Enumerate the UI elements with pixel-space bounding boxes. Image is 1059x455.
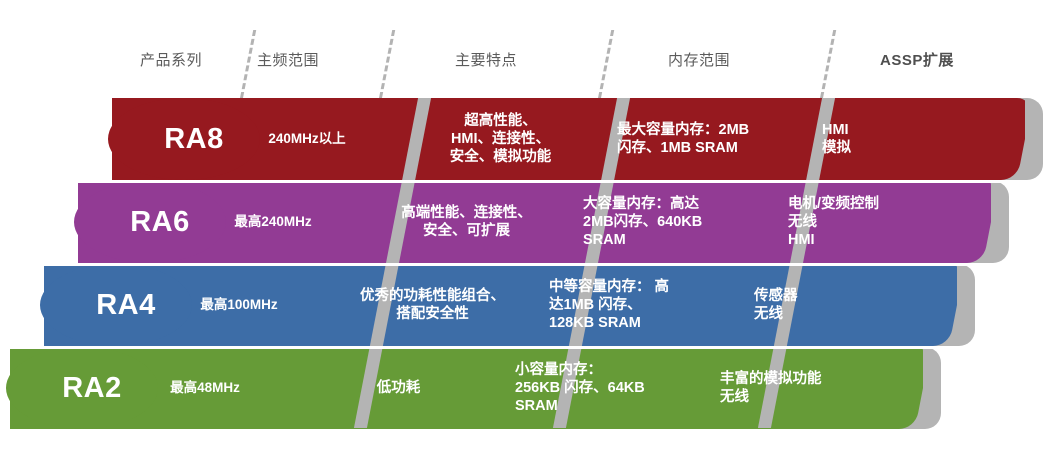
header-label-2: 主频范围	[257, 49, 319, 70]
header-label-3: 主要特点	[455, 49, 517, 70]
ra-family-comparison-diagram: 产品系列主频范围主要特点内存范围ASSP扩展 RA8RA6RA4RA2 240M…	[0, 0, 1059, 455]
header-divider-1	[240, 30, 256, 98]
cell-assp-ra6: 电机/变频控制 无线 HMI	[788, 181, 948, 263]
header-divider-2	[379, 30, 395, 98]
row-gutter-4	[0, 429, 1059, 455]
header-label-1: 产品系列	[140, 49, 202, 70]
header-divider-3	[598, 30, 614, 98]
cell-features-ra4: 优秀的功耗性能组合、 搭配安全性	[330, 264, 535, 346]
cell-assp-ra8: HMI 模拟	[822, 98, 982, 180]
family-badge-label: RA4	[96, 289, 156, 322]
cell-frequency-ra4: 最高100MHz	[164, 264, 314, 346]
cell-features-ra8: 超高性能、 HMI、连接性、 安全、模拟功能	[398, 98, 603, 180]
family-badge-label: RA2	[62, 372, 122, 405]
cell-memory-ra2: 小容量内存： 256KB 闪存、64KB SRAM	[515, 347, 700, 429]
cell-frequency-ra8: 240MHz以上	[232, 98, 382, 180]
cell-frequency-ra2: 最高48MHz	[130, 347, 280, 429]
cell-assp-ra4: 传感器 无线	[754, 264, 914, 346]
family-badge-label: RA6	[130, 206, 190, 239]
cell-features-ra6: 高端性能、连接性、 安全、可扩展	[364, 181, 569, 263]
cell-features-ra2: 低功耗	[296, 347, 501, 429]
family-badge-label: RA8	[164, 123, 224, 156]
header-label-4: 内存范围	[668, 49, 730, 70]
cell-memory-ra6: 大容量内存：高达 2MB闪存、640KB SRAM	[583, 181, 768, 263]
cell-memory-ra8: 最大容量内存：2MB 闪存、1MB SRAM	[617, 98, 802, 180]
cell-frequency-ra6: 最高240MHz	[198, 181, 348, 263]
header-divider-4	[820, 30, 836, 98]
header-label-5: ASSP扩展	[880, 49, 954, 70]
cell-assp-ra2: 丰富的模拟功能 无线	[720, 347, 880, 429]
cell-memory-ra4: 中等容量内存： 高 达1MB 闪存、 128KB SRAM	[549, 264, 734, 346]
